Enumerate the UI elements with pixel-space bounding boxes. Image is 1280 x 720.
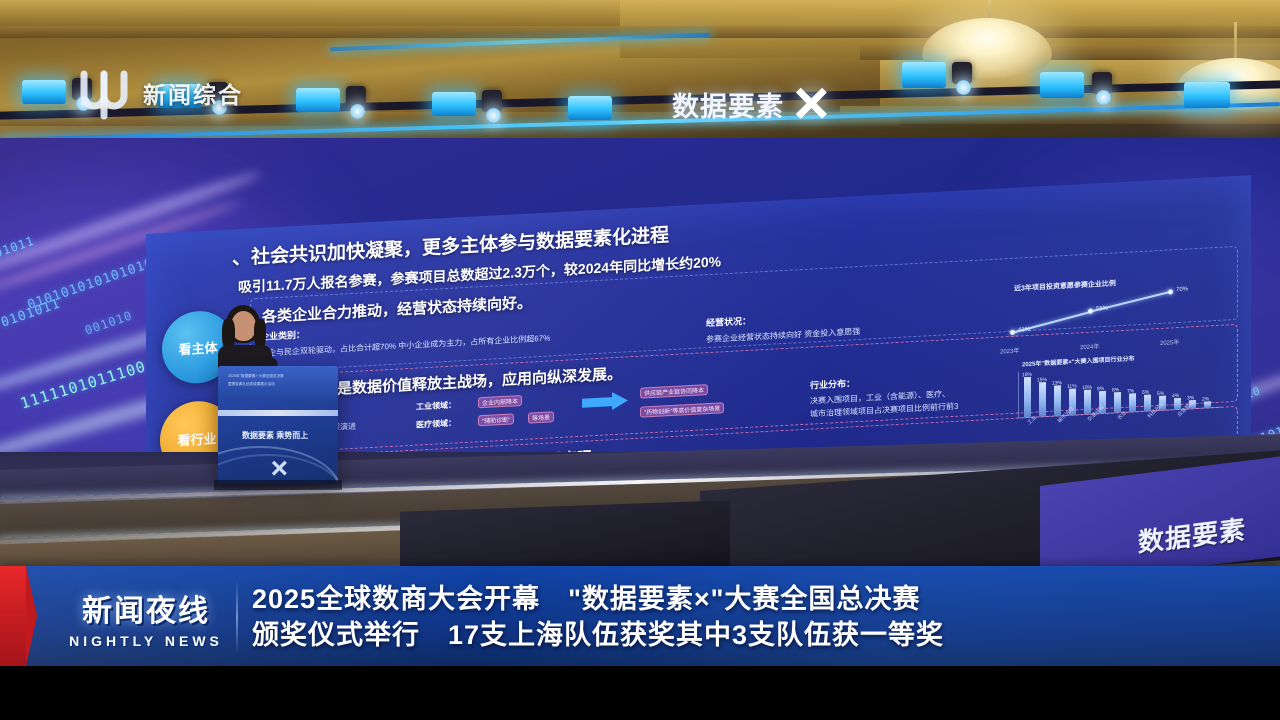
slide-section-2-right-label: 行业分布： — [810, 376, 855, 391]
bar-chart-value: 18% — [1022, 372, 1032, 379]
bar-chart-bar — [1024, 377, 1031, 417]
stage-par-light-7 — [1040, 72, 1084, 98]
line-chart-value-2: 55% — [1096, 306, 1108, 313]
stage-par-light-5 — [568, 96, 612, 120]
slide-section-2-mid-chip-2b: 等场景 — [528, 411, 554, 423]
bar-chart-value: 15% — [1037, 377, 1047, 384]
bar-chart-bar — [1084, 390, 1091, 414]
podium-light-band — [218, 410, 338, 416]
bar-chart-bar — [1114, 392, 1121, 412]
program-name-cn: 新闻夜线 — [82, 586, 210, 630]
channel-bug-label: 新闻综合 — [143, 76, 243, 110]
moving-head-lens-3 — [350, 104, 365, 119]
channel-logo-icon — [72, 62, 134, 124]
line-chart-value-3: 70% — [1176, 286, 1188, 293]
bar-chart-value: 11% — [1067, 383, 1077, 390]
bar-chart-bar — [1039, 382, 1046, 416]
venue-sign-text: 数据要素 — [672, 85, 784, 124]
line-chart-value-1: 41% — [1018, 327, 1030, 334]
slide-section-2-mid-label-2: 医疗领域： — [416, 417, 456, 430]
bar-chart-value: 6% — [1142, 390, 1149, 396]
line-chart-point-1 — [1010, 330, 1015, 335]
slide-section-1-right-label: 经营状况： — [706, 314, 751, 329]
podium-header-line1: 2025年"数据要素×"大赛全国总决赛 — [228, 374, 284, 379]
slide-transform-arrow-icon — [612, 391, 628, 410]
venue-sign-x-icon: × — [792, 78, 828, 130]
podium-base-shadow — [214, 480, 342, 490]
badge-industry-label: 看行业 — [177, 428, 216, 449]
bar-chart-bar — [1129, 393, 1136, 411]
stage-par-light-6 — [902, 62, 946, 88]
moving-head-lens-6 — [1096, 90, 1111, 105]
bar-chart-value: 8% — [1112, 387, 1119, 393]
stage-par-light-3 — [296, 88, 340, 112]
slide-section-2-mid-label-1: 工业领域： — [416, 399, 456, 412]
bar-chart-bar — [1144, 394, 1151, 410]
line-chart-point-2 — [1088, 309, 1093, 314]
venue-stage-sign: 数据要素 × — [672, 78, 828, 130]
slide-section-2-mid-chip-1: 企业内部降本 — [478, 395, 522, 408]
bar-chart-bar — [1054, 385, 1061, 415]
letterbox-bottom — [0, 666, 1280, 720]
channel-bug: 新闻综合 — [72, 62, 243, 124]
lower-third-red-tab — [0, 566, 26, 666]
bar-chart-value: 2% — [1202, 396, 1209, 402]
stage-par-light-8 — [1184, 82, 1230, 108]
podium-slogan: 数据要素 乘势而上 — [242, 430, 308, 441]
bar-chart-value: 13% — [1052, 380, 1062, 387]
headline-line-1: 2025全球数商大会开幕 "数据要素×"大赛全国总决赛 — [252, 581, 1262, 617]
headline-block: 2025全球数商大会开幕 "数据要素×"大赛全国总决赛 颁奖仪式举行 17支上海… — [252, 581, 1262, 653]
slide-transform-arrow-tail — [582, 397, 612, 408]
program-name-en: NIGHTLY NEWS — [69, 633, 223, 649]
podium-header-line2: 暨颁奖典礼优秀成果展示活动 — [228, 382, 275, 387]
headline-line-2: 颁奖仪式举行 17支上海队伍获奖其中3支队伍获一等奖 — [252, 617, 1262, 653]
bar-chart-value: 10% — [1082, 385, 1092, 392]
bar-chart-value: 7% — [1127, 388, 1134, 394]
program-logo: 新闻夜线 NIGHTLY NEWS — [66, 578, 226, 656]
bar-chart-y-axis — [1018, 371, 1019, 417]
bar-chart-value: 5% — [1157, 391, 1164, 397]
stage-par-light-4 — [432, 92, 476, 116]
bar-chart-value: 4% — [1172, 393, 1179, 399]
speaker-podium: 2025年"数据要素×"大赛全国总决赛 暨颁奖典礼优秀成果展示活动 数据要素 乘… — [218, 366, 338, 484]
broadcast-frame: 数据要素 × 01011 01010101010101010 0101011 0… — [0, 0, 1280, 720]
moving-head-lens-4 — [486, 108, 501, 123]
lower-third-divider — [236, 580, 238, 654]
bar-chart-value: 9% — [1097, 386, 1104, 392]
line-chart-point-3 — [1168, 289, 1173, 294]
slide-section-2-mid-chip-2a: "辅助诊断" — [478, 413, 514, 426]
stage-par-light — [22, 80, 66, 104]
chandelier-stem-2 — [1234, 22, 1237, 60]
moving-head-lens-5 — [956, 80, 971, 95]
